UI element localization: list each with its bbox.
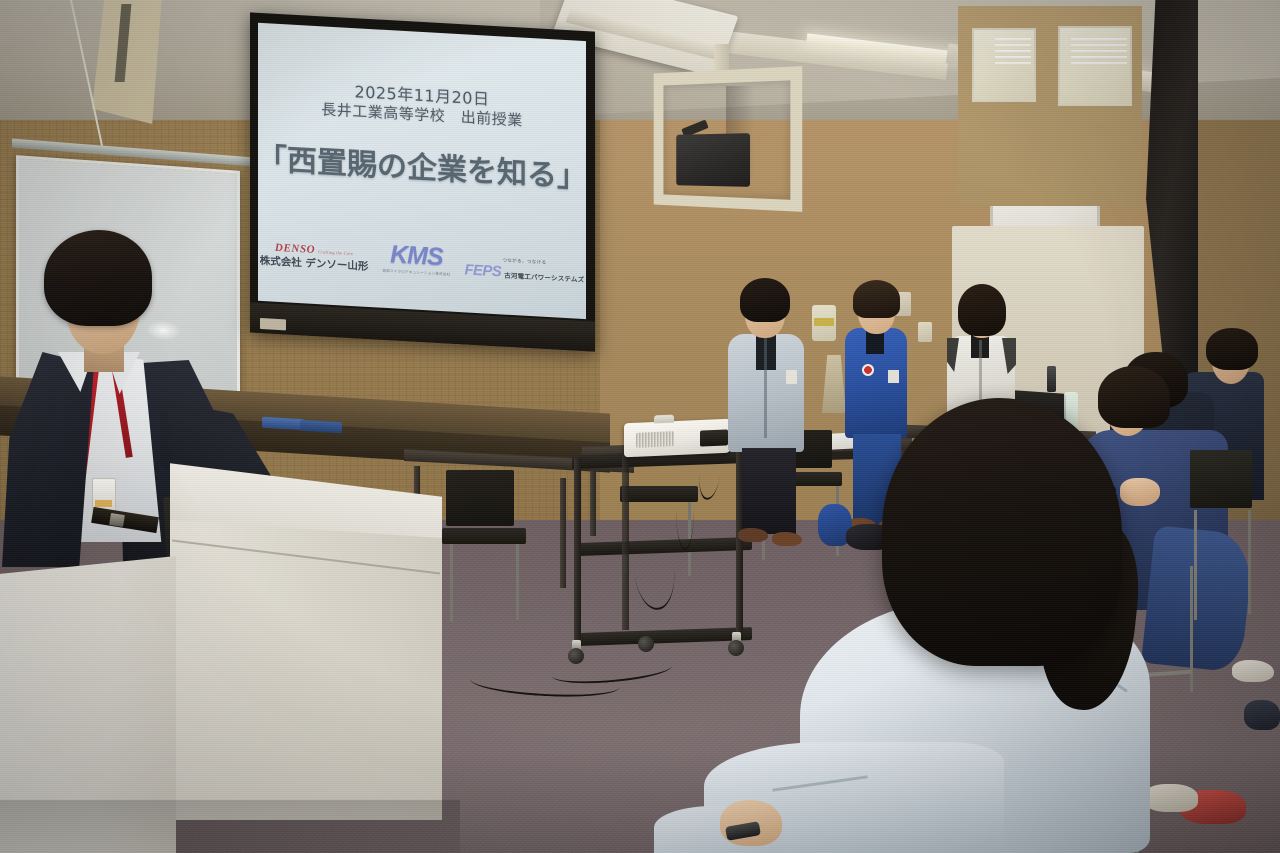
feps-company-name: 古河電工パワーシステムズ <box>504 274 584 285</box>
wall-outlet[interactable] <box>918 322 932 342</box>
ceiling-projector-bracket <box>648 56 800 208</box>
denso-tagline: Crafting the Core <box>318 251 353 258</box>
slide-header: 2025年11月20日 長井工業高等学校 出前授業 <box>321 80 523 131</box>
slide-logo-row: DENSOCrafting the Core 株式会社 デンソー山形 KMS 協… <box>258 234 586 285</box>
door-glass-left <box>972 28 1036 102</box>
presenter-belt-buckle <box>109 513 125 527</box>
bracket-arm <box>714 44 729 72</box>
staff1-shoe-left <box>738 528 768 542</box>
staff2-emblem <box>862 364 874 376</box>
door-handle[interactable] <box>1047 366 1056 392</box>
table-left-leg-2 <box>560 478 566 588</box>
screen-pull-tab <box>260 318 286 330</box>
door-glass-right <box>1058 26 1132 106</box>
sliding-door-right[interactable] <box>1050 6 1142 206</box>
kms-company-name: 協和マイクロアキュレーション株式会社 <box>382 270 450 278</box>
presenter-badge-stripe <box>95 500 112 507</box>
staff1-trousers <box>742 448 796 534</box>
sliding-door-left[interactable] <box>958 6 1050 206</box>
podium-floor-shadow <box>0 800 460 853</box>
cable-2 <box>676 470 694 550</box>
denso-mark-text: DENSO <box>275 242 315 256</box>
kms-wordmark: KMS <box>382 241 450 271</box>
cart-caster-3 <box>638 636 654 652</box>
staff3-hair <box>958 284 1006 336</box>
projector-lens-housing <box>654 415 674 424</box>
classroom-photo: No.4 2025年11月20日 長井工業高等学校 出前授業 「西置賜の企業を知… <box>0 0 1280 853</box>
whiteboard-glare <box>145 320 181 343</box>
projection-screen: 2025年11月20日 長井工業高等学校 出前授業 「西置賜の企業を知る」 DE… <box>250 12 595 351</box>
staff1-zip <box>764 338 767 438</box>
telephone-label <box>814 318 834 326</box>
logo-kms: KMS 協和マイクロアキュレーション株式会社 <box>382 241 450 278</box>
podium-front <box>170 520 442 820</box>
item-white-floor <box>1144 784 1198 812</box>
student2-draped-jacket <box>1141 525 1255 673</box>
staff1-shoe-right <box>772 532 802 546</box>
student2-hair <box>1098 366 1170 428</box>
cart-post-left-front <box>574 458 581 640</box>
cart-caster-1 <box>568 648 584 664</box>
fg-student-hair <box>882 398 1122 666</box>
slide-title: 「西置賜の企業を知る」 <box>258 134 586 196</box>
bag-on-floor-right <box>1244 700 1280 730</box>
logo-feps: つながる、つなげる FEPS 古河電工パワーシステムズ <box>464 257 584 285</box>
feps-wordmark: FEPS <box>464 263 501 281</box>
blind-right <box>1071 34 1127 64</box>
presenter-hair <box>44 230 152 326</box>
cart-post-left-back <box>622 452 629 630</box>
student4-hair <box>1206 328 1258 370</box>
staff1-id-badge <box>786 370 797 384</box>
staff1-hair <box>740 278 790 322</box>
staff2-id-badge <box>888 370 899 383</box>
slide-surface: 2025年11月20日 長井工業高等学校 出前授業 「西置賜の企業を知る」 DE… <box>258 23 586 319</box>
shoe-white-far <box>1232 660 1274 682</box>
cart-caster-2 <box>728 640 744 656</box>
bracket-device <box>676 133 750 187</box>
blind-left <box>995 36 1031 64</box>
staff2-hair <box>853 280 900 318</box>
logo-denso: DENSOCrafting the Core 株式会社 デンソー山形 <box>260 242 369 273</box>
projector-vent-grille <box>636 431 674 448</box>
projector-ports <box>700 429 728 446</box>
student2-hands <box>1120 478 1160 506</box>
